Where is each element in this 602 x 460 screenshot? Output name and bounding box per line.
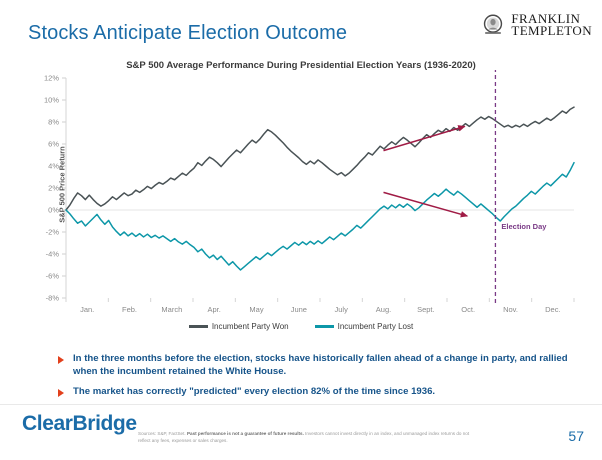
legend-label-won: Incumbent Party Won [212, 322, 289, 331]
triangle-bullet-icon [58, 389, 64, 397]
x-axis-tick-label: Nov. [503, 305, 518, 314]
footer-divider [0, 404, 602, 405]
triangle-bullet-icon [58, 356, 64, 364]
legend-label-lost: Incumbent Party Lost [338, 322, 414, 331]
y-axis-tick-label: 4% [48, 162, 59, 171]
y-axis-tick-label: -4% [46, 250, 60, 259]
y-axis-tick-label: -8% [46, 294, 60, 303]
y-axis-tick-label: -2% [46, 228, 60, 237]
x-axis-tick-label: Apr. [207, 305, 220, 314]
series-line-incumbent-won [66, 107, 574, 210]
x-axis-tick-label: Oct. [461, 305, 475, 314]
line-chart: 12%10%8%6%4%2%0%-2%-4%-6%-8%Jan.Feb.Marc… [18, 70, 584, 320]
bullet-item: In the three months before the election,… [58, 352, 578, 378]
franklin-templeton-medallion-icon [480, 12, 506, 38]
x-axis-tick-label: May [249, 305, 263, 314]
x-axis-tick-label: March [161, 305, 182, 314]
x-axis-tick-label: Feb. [122, 305, 137, 314]
slide: Stocks Anticipate Election Outcome FRANK… [0, 0, 602, 460]
y-axis-tick-label: 8% [48, 118, 59, 127]
page-title: Stocks Anticipate Election Outcome [28, 22, 347, 45]
clearbridge-logo: ClearBridge [22, 412, 137, 436]
page-number: 57 [568, 428, 584, 444]
disclaimer-text: Sources: S&P, FactSet. Past performance … [138, 430, 478, 444]
y-axis-tick-label: 6% [48, 140, 59, 149]
bullet-item: The market has correctly "predicted" eve… [58, 385, 578, 398]
franklin-templeton-wordmark: FRANKLIN TEMPLETON [511, 13, 592, 38]
x-axis-tick-label: Aug. [376, 305, 391, 314]
chart-container: S&P 500 Average Performance During Presi… [18, 60, 584, 350]
x-axis-tick-label: July [334, 305, 348, 314]
up-arrow-annotation [384, 126, 465, 150]
series-line-incumbent-lost [66, 163, 574, 270]
x-axis-tick-label: June [291, 305, 307, 314]
y-axis-tick-label: 0% [48, 206, 59, 215]
legend-item-incumbent-won: Incumbent Party Won [189, 322, 289, 331]
bullet-list: In the three months before the election,… [58, 352, 578, 405]
x-axis-tick-label: Dec. [545, 305, 560, 314]
logo-line-2: TEMPLETON [511, 25, 592, 38]
disclaimer-bold: Past performance is not a guarantee of f… [187, 431, 304, 436]
y-axis-tick-label: 12% [44, 74, 59, 83]
y-axis-tick-label: 2% [48, 184, 59, 193]
chart-legend: Incumbent Party Won Incumbent Party Lost [18, 322, 584, 331]
disclaimer-prefix: Sources: S&P, FactSet. [138, 431, 187, 436]
y-axis-tick-label: 10% [44, 96, 59, 105]
franklin-templeton-logo: FRANKLIN TEMPLETON [480, 12, 592, 38]
legend-swatch-lost [315, 325, 334, 328]
election-day-label: Election Day [501, 222, 546, 231]
y-axis-tick-label: -6% [46, 272, 60, 281]
bullet-text: The market has correctly "predicted" eve… [73, 385, 435, 398]
legend-swatch-won [189, 325, 208, 328]
bullet-text: In the three months before the election,… [73, 352, 578, 378]
legend-item-incumbent-lost: Incumbent Party Lost [315, 322, 414, 331]
down-arrow-annotation [384, 192, 468, 216]
x-axis-tick-label: Jan. [80, 305, 94, 314]
x-axis-tick-label: Sept. [417, 305, 435, 314]
